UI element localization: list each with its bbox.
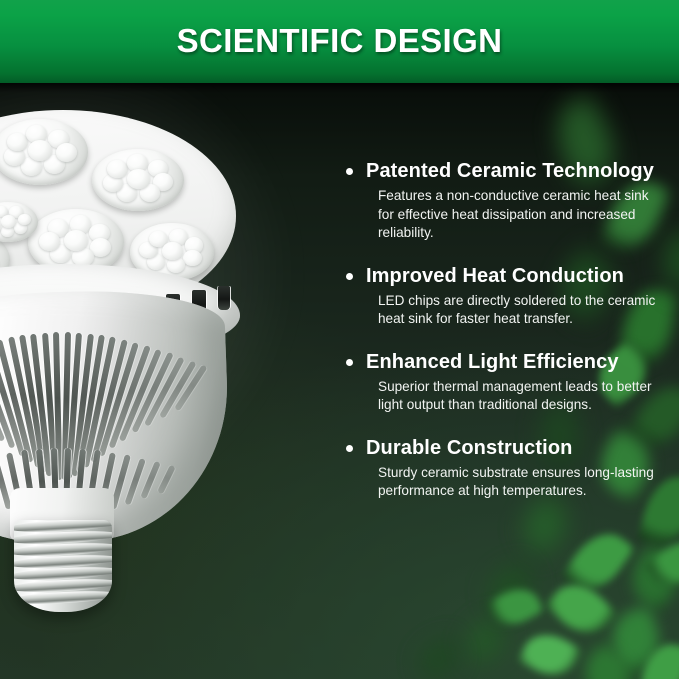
header-banner: SCIENTIFIC DESIGN — [0, 0, 679, 83]
led-lens-dome — [18, 214, 31, 226]
product-image-bulb: SANSI — [0, 96, 302, 626]
leaf-shape — [518, 625, 583, 679]
feature-item: Improved Heat ConductionLED chips are di… — [344, 265, 674, 329]
feature-title: Enhanced Light Efficiency — [366, 351, 674, 373]
vent-slot — [218, 286, 230, 310]
led-lens-dome — [28, 140, 52, 161]
feature-list: Patented Ceramic TechnologyFeatures a no… — [344, 160, 674, 523]
feature-description: LED chips are directly soldered to the c… — [366, 292, 656, 329]
led-lens-dome — [1, 215, 16, 228]
feature-description: Features a non-conductive ceramic heat s… — [366, 187, 656, 243]
led-lens-dome — [39, 232, 60, 251]
page-title: SCIENTIFIC DESIGN — [0, 22, 679, 60]
feature-description: Sturdy ceramic substrate ensures long-la… — [366, 464, 656, 501]
led-lens-dome — [127, 169, 150, 189]
feature-title: Improved Heat Conduction — [366, 265, 674, 287]
infographic-page: SCIENTIFIC DESIGN SANSI Patented Ceramic… — [0, 0, 679, 679]
led-lens-dome — [162, 242, 183, 260]
led-lens-dome — [56, 143, 77, 162]
leaf-shape — [416, 637, 463, 679]
screw-base — [14, 520, 112, 612]
led-lens-dome — [7, 133, 28, 152]
bullet-dot-icon — [346, 445, 353, 452]
feature-item: Enhanced Light EfficiencySuperior therma… — [344, 351, 674, 415]
bullet-dot-icon — [346, 359, 353, 366]
header-shadow — [0, 83, 679, 93]
feature-title: Durable Construction — [366, 437, 674, 459]
led-lens-dome — [183, 250, 201, 266]
feature-title: Patented Ceramic Technology — [366, 160, 674, 182]
bullet-dot-icon — [346, 168, 353, 175]
feature-description: Superior thermal management leads to bet… — [366, 378, 656, 415]
bullet-dot-icon — [346, 273, 353, 280]
led-lens-dome — [107, 160, 127, 178]
feature-item: Patented Ceramic TechnologyFeatures a no… — [344, 160, 674, 243]
feature-item: Durable ConstructionSturdy ceramic subst… — [344, 437, 674, 501]
led-lens-dome — [64, 230, 88, 251]
